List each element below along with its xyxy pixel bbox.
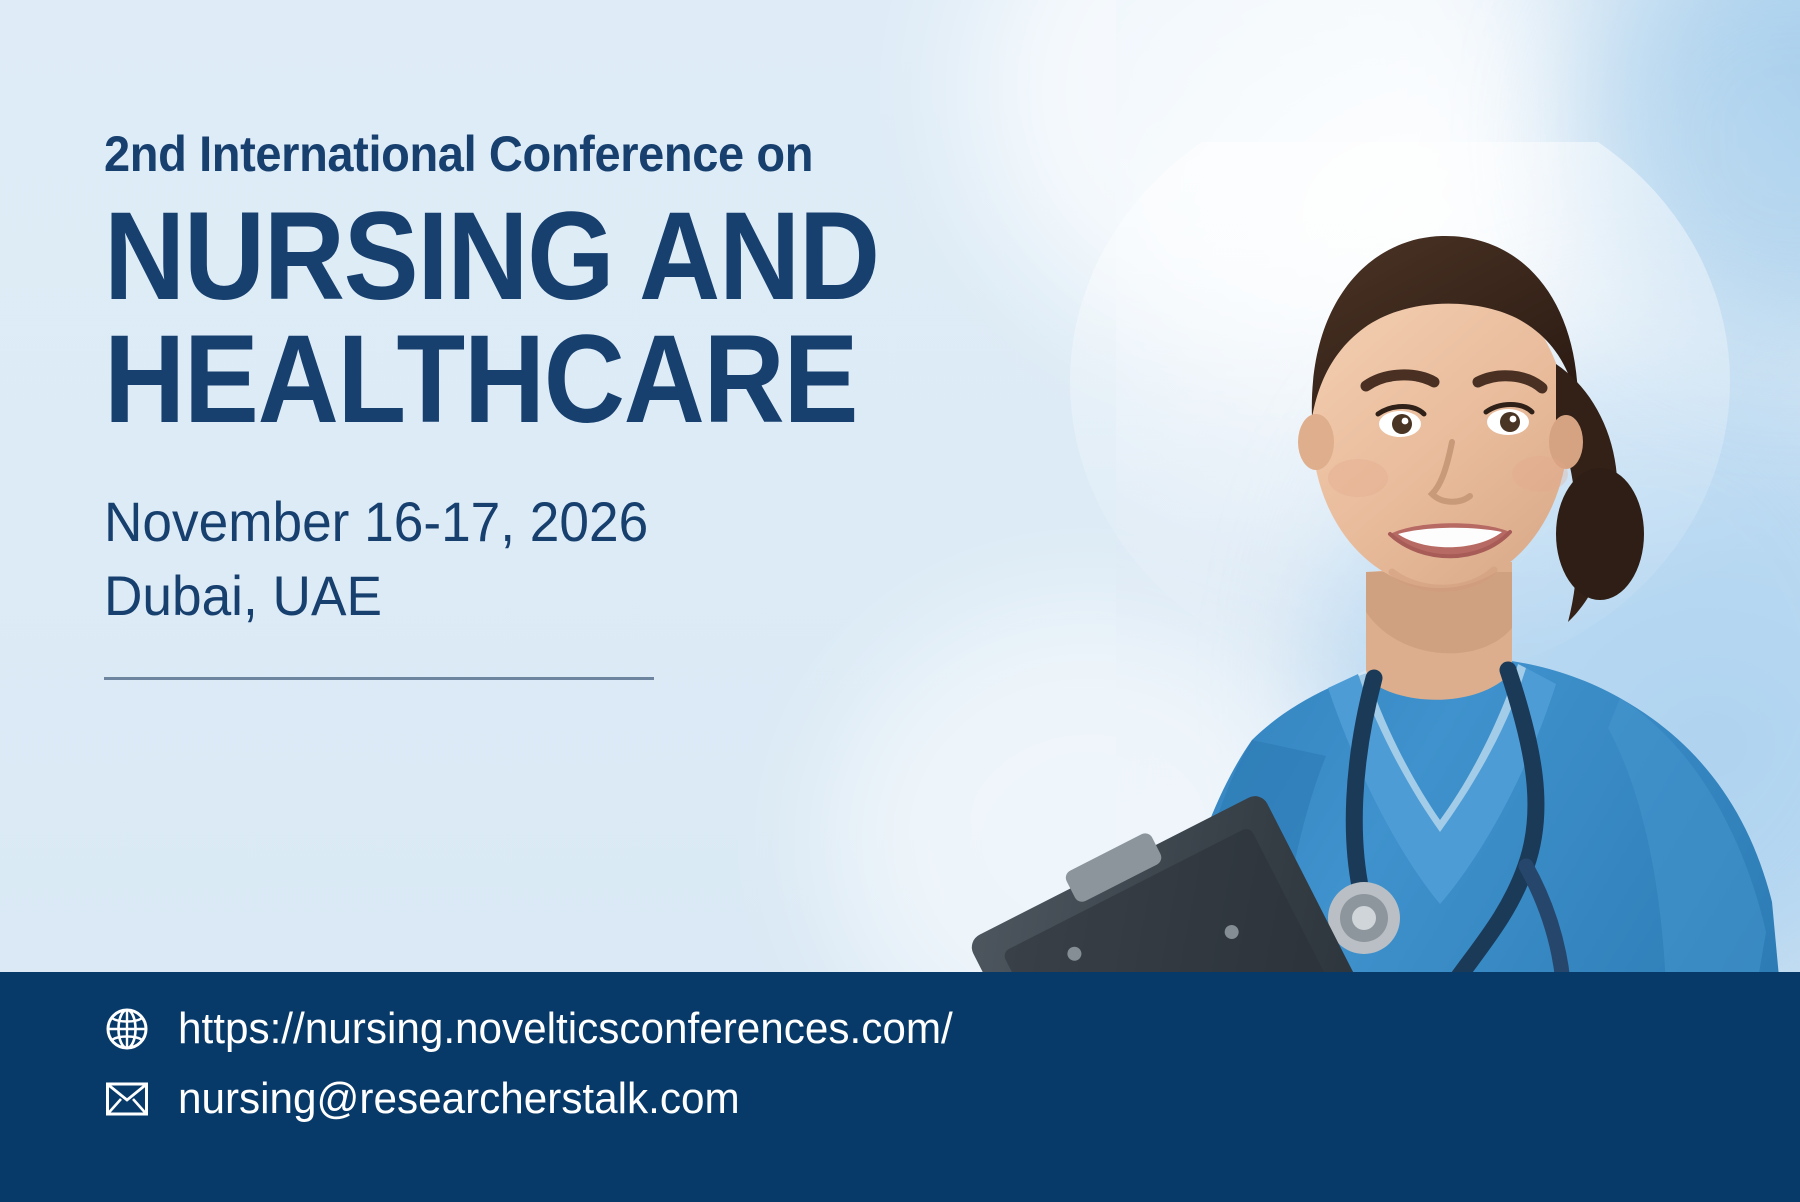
conference-title-line-2: HEALTHCARE — [104, 319, 914, 442]
globe-icon — [104, 1006, 150, 1052]
email-address[interactable]: nursing@researcherstalk.com — [178, 1077, 740, 1121]
conference-banner: 2nd International Conference on NURSING … — [0, 0, 1800, 1202]
conference-title-line-1: NURSING AND — [104, 196, 914, 319]
banner-content: 2nd International Conference on NURSING … — [104, 128, 1004, 680]
contact-footer: https://nursing.novelticsconferences.com… — [0, 972, 1800, 1202]
conference-date: November 16-17, 2026 — [104, 485, 959, 559]
conference-eyebrow: 2nd International Conference on — [104, 128, 950, 180]
contact-list: https://nursing.novelticsconferences.com… — [104, 1006, 985, 1122]
conference-title: NURSING AND HEALTHCARE — [104, 196, 1004, 441]
conference-meta: November 16-17, 2026 Dubai, UAE — [104, 485, 1004, 633]
email-row[interactable]: nursing@researcherstalk.com — [104, 1076, 985, 1122]
divider-line — [104, 677, 654, 680]
website-url[interactable]: https://nursing.novelticsconferences.com… — [178, 1007, 953, 1051]
website-row[interactable]: https://nursing.novelticsconferences.com… — [104, 1006, 985, 1052]
envelope-icon — [104, 1076, 150, 1122]
conference-location: Dubai, UAE — [104, 559, 959, 633]
